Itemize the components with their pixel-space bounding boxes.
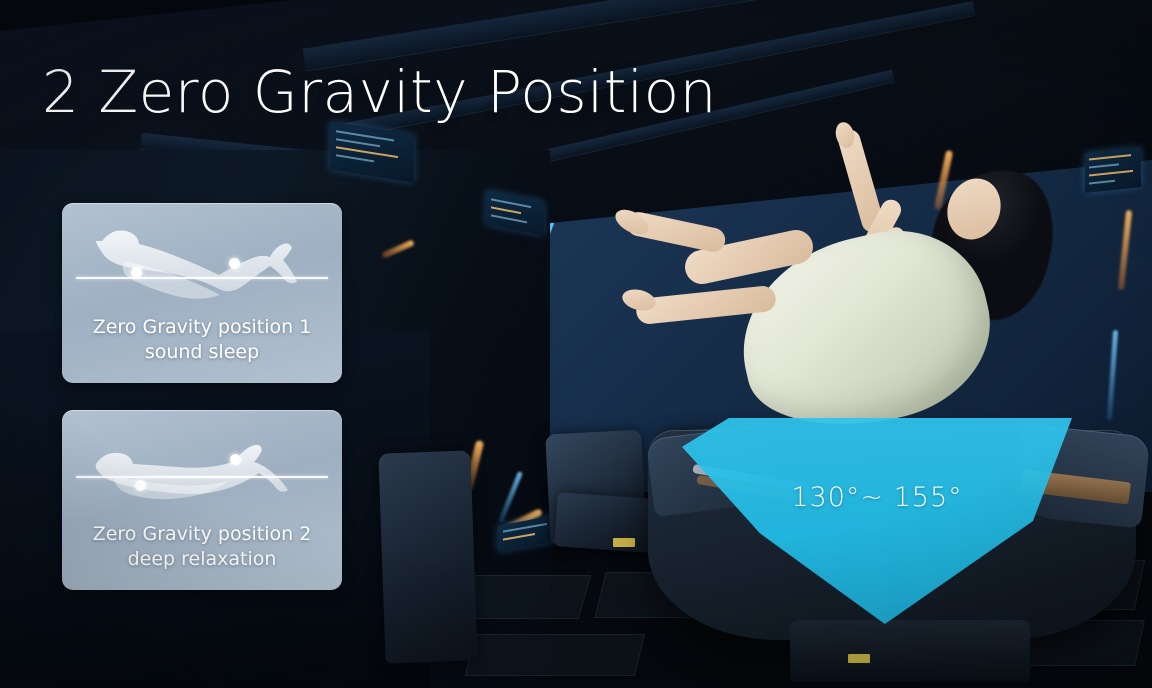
floating-woman-figure bbox=[600, 120, 1070, 450]
zero-gravity-position-2-card: Zero Gravity position 2 deep relaxation bbox=[62, 410, 342, 590]
cockpit-seat bbox=[378, 450, 477, 663]
hip-joint-marker bbox=[135, 480, 146, 491]
knee-joint-marker bbox=[229, 258, 240, 269]
zero-gravity-position-1-card: Zero Gravity position 1 sound sleep bbox=[62, 203, 342, 383]
card-title: Zero Gravity position 1 sound sleep bbox=[62, 315, 342, 365]
card-title-line: Zero Gravity position 1 bbox=[62, 315, 342, 340]
page-title: 2 Zero Gravity Position bbox=[42, 58, 717, 126]
recline-angle-label: 130°~ 155° bbox=[682, 482, 1072, 513]
floor-panel bbox=[465, 634, 645, 676]
massage-chair: 130°~ 155° bbox=[640, 424, 1152, 688]
chair-base bbox=[790, 620, 1030, 682]
hip-joint-marker bbox=[131, 267, 142, 278]
reference-line bbox=[76, 277, 328, 279]
card-title-line: Zero Gravity position 2 bbox=[62, 522, 342, 547]
knee-joint-marker bbox=[230, 454, 241, 465]
card-title: Zero Gravity position 2 deep relaxation bbox=[62, 522, 342, 572]
card-subtitle-line: sound sleep bbox=[62, 340, 342, 365]
seat-warning-label bbox=[613, 538, 635, 547]
zero-gravity-promo-banner: 130°~ 155° 2 Zero Gravity Position Zero … bbox=[0, 0, 1152, 688]
cockpit-console-display bbox=[1085, 147, 1141, 193]
chair-warning-label bbox=[848, 654, 870, 663]
card-subtitle-line: deep relaxation bbox=[62, 547, 342, 572]
reference-line bbox=[76, 476, 328, 478]
reclining-figure-position-2-icon bbox=[62, 418, 342, 526]
reclining-figure-position-1-icon bbox=[62, 211, 342, 319]
